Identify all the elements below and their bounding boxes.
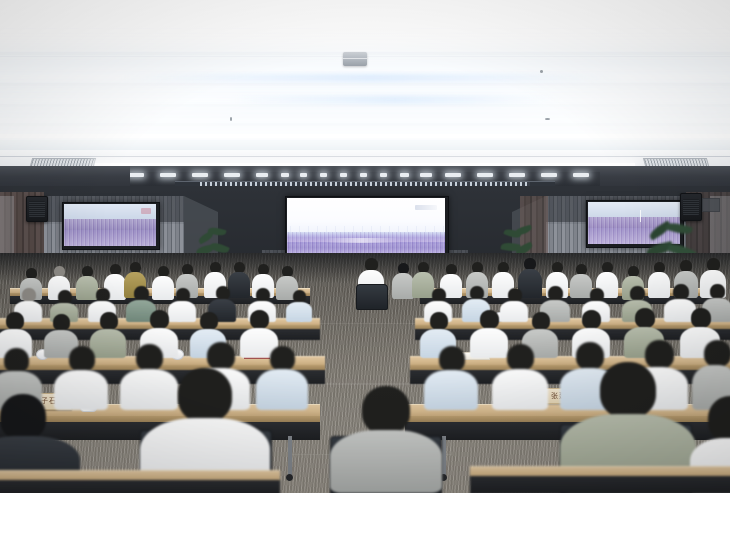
- soffit-downlight: [300, 173, 307, 177]
- desk-modesty-panel: [470, 476, 730, 493]
- attendee-torso: [286, 302, 312, 322]
- attendee-head: [134, 286, 149, 301]
- left-screen-foreground-texture: [64, 230, 156, 246]
- soffit-downlight: [541, 173, 557, 177]
- attendee-head: [430, 312, 448, 330]
- attendee-head: [704, 340, 730, 367]
- screenshot-root: 中子石 张建华: [0, 0, 730, 548]
- attendee-head: [96, 288, 110, 302]
- attendee: [392, 263, 414, 299]
- soffit-downlight: [445, 173, 461, 177]
- ceiling-sensor-icon: [540, 70, 543, 73]
- exit-sign-icon: [702, 198, 720, 212]
- ceiling-sprinkler-icon: [230, 117, 232, 121]
- attendee-head: [250, 310, 269, 329]
- soffit-downlight: [256, 173, 268, 177]
- attendee-head: [600, 362, 656, 418]
- attendee-head: [507, 344, 534, 371]
- attendee-head: [362, 386, 410, 434]
- attendee-head: [673, 284, 689, 300]
- right-screen-tower-mark: [640, 210, 641, 222]
- attendee-head: [200, 312, 218, 330]
- soffit-downlight: [509, 173, 525, 177]
- ceiling-light-glow-a: [120, 74, 620, 83]
- attendee: [492, 344, 548, 410]
- soffit-downlight: [340, 173, 347, 177]
- soffit-downlight: [380, 173, 387, 177]
- plant-leaf: [513, 225, 532, 237]
- main-screen-highlight: [325, 238, 398, 243]
- ceiling-joint-line: [0, 156, 730, 157]
- soffit-downlight: [192, 173, 208, 177]
- attendee-head: [178, 368, 232, 422]
- ceiling-trough-edge-c: [0, 123, 730, 126]
- attendee-head: [470, 286, 484, 300]
- ceiling-trough-edge-a: [0, 83, 730, 86]
- soffit-downlight: [224, 173, 240, 177]
- attendee-head: [548, 286, 563, 301]
- soffit-downlight: [477, 173, 493, 177]
- attendee: [286, 290, 312, 322]
- attendee-head: [176, 288, 190, 302]
- attendee-head: [480, 310, 499, 329]
- attendee-head: [58, 290, 72, 304]
- soffit-downlight: [420, 173, 432, 177]
- attendee-head: [256, 288, 270, 302]
- soffit-downlight: [320, 173, 327, 177]
- attendee-torso: [492, 369, 548, 410]
- right-wall-speaker-icon: [680, 193, 702, 221]
- attendee-head: [432, 288, 446, 302]
- soffit-downlight: [128, 173, 144, 177]
- attendee: [330, 386, 442, 493]
- soffit-downlight: [573, 173, 589, 177]
- attendee-head: [136, 344, 163, 371]
- ceiling-projector-icon: [343, 52, 367, 66]
- attendee-head: [710, 284, 725, 299]
- attendee-head: [100, 312, 118, 330]
- main-screen-overlay-mark: [415, 205, 437, 210]
- attendee-head: [216, 286, 230, 300]
- attendee-head: [150, 310, 169, 329]
- soffit-downlight: [400, 173, 409, 177]
- desk-row-front-left: [0, 470, 280, 493]
- attendee-torso: [392, 273, 414, 299]
- attendee-head: [69, 346, 95, 372]
- attendee-head: [508, 288, 522, 302]
- attendee-head: [0, 394, 46, 440]
- attendee-torso: [330, 430, 442, 493]
- desk-row-front-right: [470, 466, 730, 493]
- conference-room-photograph: 中子石 张建华: [0, 0, 730, 493]
- ceiling-trough-edge-b: [0, 104, 730, 107]
- attendee-head: [22, 288, 36, 302]
- soffit-downlight: [160, 173, 176, 177]
- left-screen-logo-mark: [141, 208, 151, 214]
- attendee-head: [4, 348, 29, 373]
- attendee-head: [635, 308, 655, 328]
- desk-modesty-panel: [0, 480, 280, 493]
- desk-caster: [286, 474, 293, 481]
- attendee-head: [6, 312, 24, 330]
- left-wall-speaker-icon: [26, 196, 48, 222]
- page-whitespace: [0, 493, 730, 548]
- attendee-head: [53, 314, 70, 331]
- attendee-head: [270, 346, 295, 371]
- ceiling-sprinkler-icon-2: [545, 118, 550, 120]
- attendee-head: [708, 396, 730, 442]
- soffit-downlight: [281, 173, 289, 177]
- attendee-head: [207, 342, 235, 370]
- attendee-head: [532, 312, 550, 330]
- attendee-head: [590, 288, 604, 302]
- ceiling-light-strip-d: [0, 134, 730, 138]
- soffit-downlight: [360, 173, 367, 177]
- attendee-head: [439, 346, 465, 372]
- left-led-screen-content: [64, 204, 156, 246]
- attendee-head: [630, 286, 645, 301]
- attendee-head: [691, 308, 711, 328]
- attendee-head: [582, 310, 601, 329]
- main-led-wall-content: [287, 198, 445, 256]
- chair: [356, 284, 388, 310]
